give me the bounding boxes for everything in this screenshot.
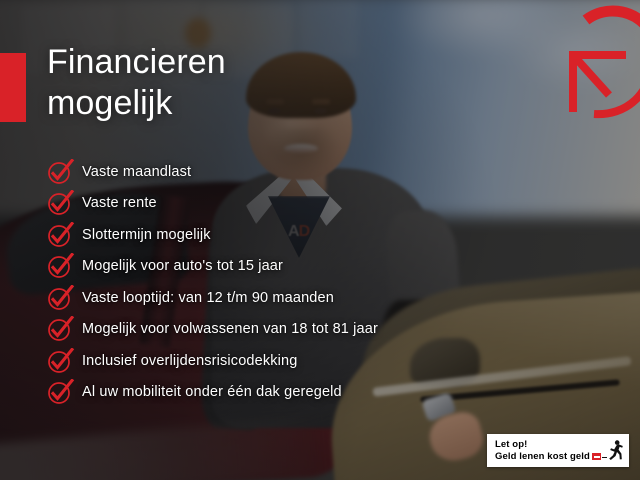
list-item-label: Inclusief overlijdensrisicodekking	[82, 353, 297, 369]
list-item-label: Slottermijn mogelijk	[82, 227, 211, 243]
list-item: Vaste maandlast	[46, 156, 466, 188]
afm-warning-text: Let op! Geld lenen kost geld	[495, 439, 592, 462]
red-check-circle-icon	[46, 253, 76, 279]
red-check-circle-icon	[46, 379, 76, 405]
walking-man-icon	[608, 440, 623, 460]
red-credit-card-icon	[592, 453, 601, 460]
red-accent-block	[0, 53, 26, 122]
circular-arrow-logo-icon	[556, 0, 640, 122]
red-check-circle-icon	[46, 316, 76, 342]
afm-warning-line1: Let op!	[495, 439, 592, 451]
list-item-label: Al uw mobiliteit onder één dak geregeld	[82, 384, 342, 400]
red-check-circle-icon	[46, 348, 76, 374]
page-title: Financieren mogelijk	[47, 42, 226, 124]
list-item: Mogelijk voor auto's tot 15 jaar	[46, 251, 466, 283]
list-item-label: Vaste maandlast	[82, 164, 191, 180]
motion-dash-icon	[602, 457, 607, 459]
list-item: Inclusief overlijdensrisicodekking	[46, 345, 466, 377]
red-check-circle-icon	[46, 285, 76, 311]
list-item-label: Mogelijk voor volwassenen van 18 tot 81 …	[82, 321, 378, 337]
list-item-label: Mogelijk voor auto's tot 15 jaar	[82, 258, 283, 274]
list-item-label: Vaste looptijd: van 12 t/m 90 maanden	[82, 290, 334, 306]
afm-icon-group	[592, 440, 623, 461]
list-item: Mogelijk voor volwassenen van 18 tot 81 …	[46, 314, 466, 346]
list-item: Al uw mobiliteit onder één dak geregeld	[46, 377, 466, 409]
red-check-circle-icon	[46, 159, 76, 185]
promo-banner: AD Financieren mogelijk Vaste m	[0, 0, 640, 480]
feature-list: Vaste maandlast Vaste rente Slottermijn …	[46, 156, 466, 408]
list-item: Slottermijn mogelijk	[46, 219, 466, 251]
list-item-label: Vaste rente	[82, 195, 157, 211]
status-badge: Let op! Geld lenen kost geld	[487, 434, 629, 467]
list-item: Vaste looptijd: van 12 t/m 90 maanden	[46, 282, 466, 314]
list-item: Vaste rente	[46, 188, 466, 220]
afm-warning-line2: Geld lenen kost geld	[495, 451, 592, 463]
red-check-circle-icon	[46, 190, 76, 216]
red-check-circle-icon	[46, 222, 76, 248]
